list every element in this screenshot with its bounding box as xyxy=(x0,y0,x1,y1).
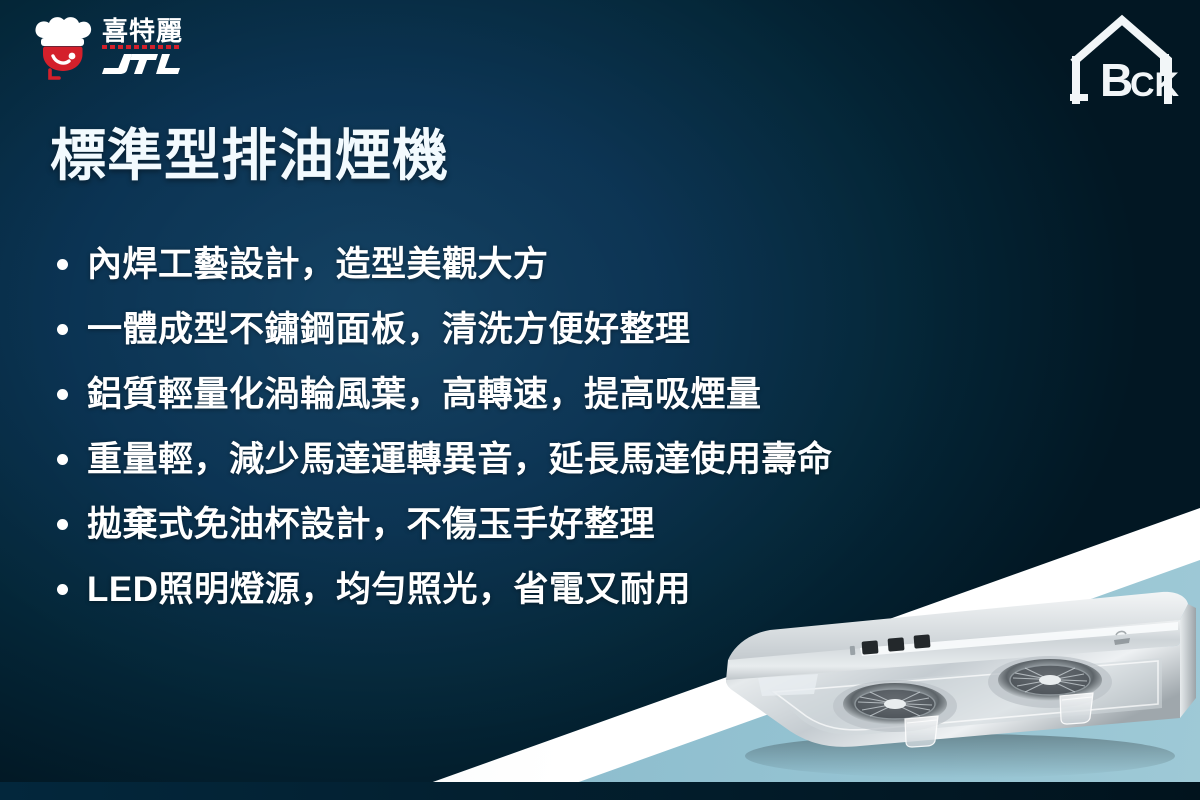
oil-cup-right xyxy=(1060,693,1093,724)
list-item: 鋁質輕量化渦輪風葉，高轉速，提高吸煙量 xyxy=(52,362,1132,427)
bullet-dot-icon xyxy=(57,259,68,270)
list-item-label: 一體成型不鏽鋼面板，清洗方便好整理 xyxy=(87,312,691,347)
hood-right-side xyxy=(1180,604,1196,718)
jtl-logo: 喜特麗 xyxy=(28,8,198,84)
bottom-accent-strip xyxy=(0,782,1200,800)
bullet-dot-icon xyxy=(57,324,68,335)
list-item: 拋棄式免油杯設計，不傷玉手好整理 xyxy=(52,492,1132,557)
bullet-dot-icon xyxy=(57,584,68,595)
bullet-dot-icon xyxy=(57,454,68,465)
list-item: 一體成型不鏽鋼面板，清洗方便好整理 xyxy=(52,297,1132,362)
list-item-label: 鋁質輕量化渦輪風葉，高轉速，提高吸煙量 xyxy=(87,377,762,412)
list-item-label: 拋棄式免油杯設計，不傷玉手好整理 xyxy=(87,507,655,542)
list-item-label: 重量輕，減少馬達運轉異音，延長馬達使用壽命 xyxy=(87,442,833,477)
turbine-fan-left xyxy=(833,680,957,732)
bck-logo-text-ck: CK xyxy=(1130,66,1180,104)
jtl-logo-wordmark xyxy=(102,54,180,74)
list-item-label: LED照明燈源，均勻照光，省電又耐用 xyxy=(87,572,691,607)
range-hood-photo xyxy=(710,586,1200,786)
page-title: 標準型排油煙機 xyxy=(50,124,449,188)
list-item: 重量輕，減少馬達運轉異音，延長馬達使用壽命 xyxy=(52,427,1132,492)
bck-logo: B CK xyxy=(1064,4,1184,116)
jtl-logo-chinese: 喜特麗 xyxy=(102,16,183,47)
bullet-dot-icon xyxy=(57,519,68,530)
oil-cup-left xyxy=(905,716,938,747)
control-button xyxy=(914,634,931,648)
feature-list: 內焊工藝設計，造型美觀大方 一體成型不鏽鋼面板，清洗方便好整理 鋁質輕量化渦輪風… xyxy=(52,232,1132,622)
bullet-dot-icon xyxy=(57,389,68,400)
control-button xyxy=(888,637,905,651)
list-item: 內焊工藝設計，造型美觀大方 xyxy=(52,232,1132,297)
control-button xyxy=(862,640,879,654)
product-feature-slide: 喜特麗 xyxy=(0,0,1200,800)
chef-mark-icon xyxy=(35,17,91,78)
bck-logo-text: B xyxy=(1100,54,1133,106)
control-indicator xyxy=(850,646,856,655)
list-item-label: 內焊工藝設計，造型美觀大方 xyxy=(87,247,549,282)
turbine-fan-right xyxy=(988,656,1112,708)
